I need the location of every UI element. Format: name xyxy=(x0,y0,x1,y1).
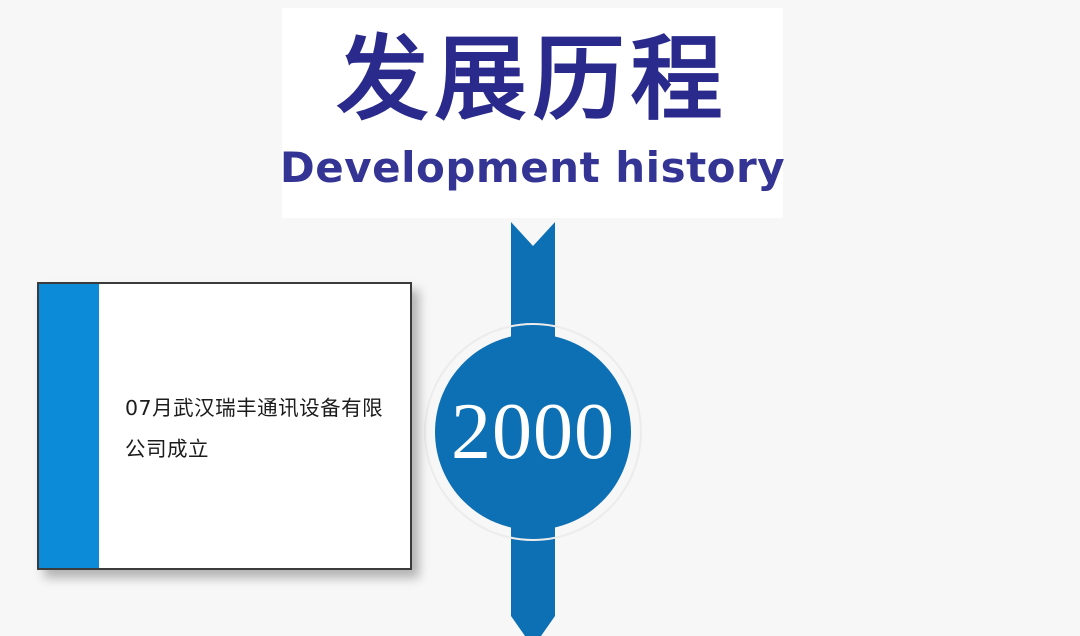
year-node-circle: 2000 xyxy=(435,334,631,530)
timeline-event-card[interactable]: 07月武汉瑞丰通讯设备有限公司成立 xyxy=(37,282,412,570)
year-label: 2000 xyxy=(451,392,615,472)
page-title-english: Development history xyxy=(280,145,785,191)
page-title-block: 发展历程 Development history xyxy=(282,8,783,218)
card-accent-bar xyxy=(39,284,99,568)
page-title-chinese: 发展历程 xyxy=(336,26,728,135)
card-body: 07月武汉瑞丰通讯设备有限公司成立 xyxy=(99,284,410,568)
card-event-text: 07月武汉瑞丰通讯设备有限公司成立 xyxy=(125,388,384,470)
timeline-year-node[interactable]: 2000 xyxy=(424,323,642,541)
